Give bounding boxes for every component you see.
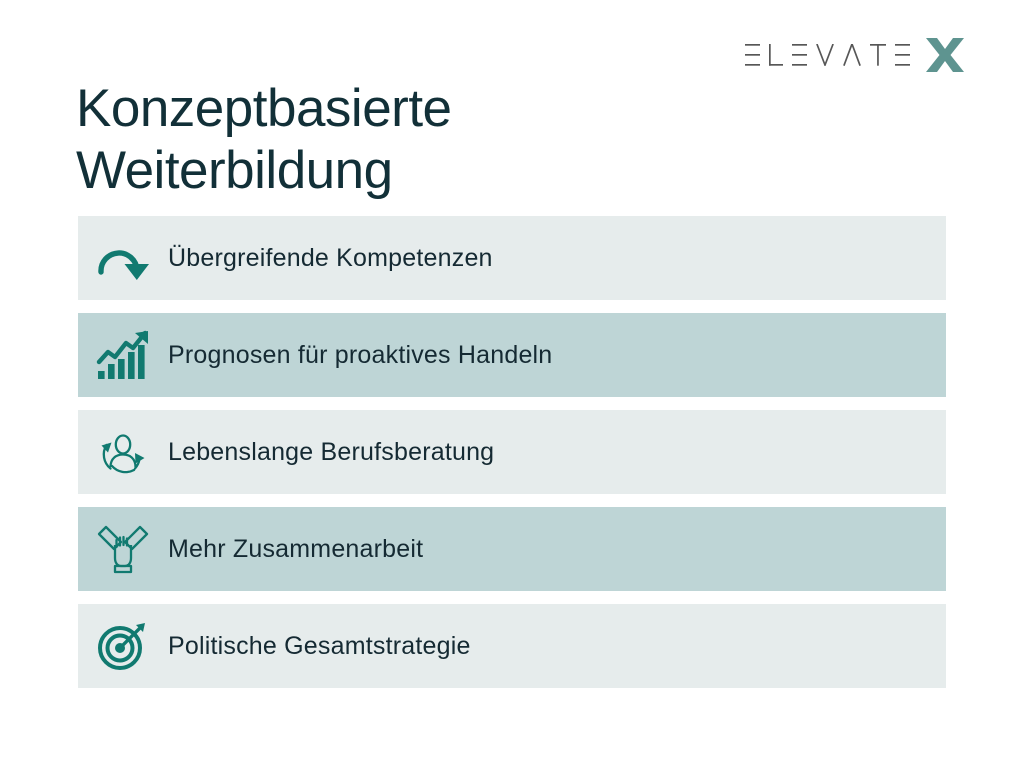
teamwork-hands-icon [92, 518, 154, 580]
person-refresh-icon [92, 421, 154, 483]
list-item[interactable]: Lebenslange Berufsberatung [78, 410, 946, 494]
list-item-label: Übergreifende Kompetenzen [168, 244, 493, 273]
logo-letter-v [816, 44, 834, 66]
list-item[interactable]: Übergreifende Kompetenzen [78, 216, 946, 300]
list-item[interactable]: Mehr Zusammenarbeit [78, 507, 946, 591]
list-item-label: Politische Gesamtstrategie [168, 632, 471, 661]
target-dart-icon [92, 615, 154, 677]
logo-letter-a [843, 44, 861, 66]
logo-letter-e [895, 44, 910, 66]
logo-letter-e [745, 44, 760, 66]
list-item[interactable]: Politische Gesamtstrategie [78, 604, 946, 688]
logo-letter-t [870, 44, 886, 66]
growth-chart-icon [92, 324, 154, 386]
logo-letter-l [769, 44, 783, 66]
list-item[interactable]: Prognosen für proaktives Handeln [78, 313, 946, 397]
list-item-label: Lebenslange Berufsberatung [168, 438, 494, 467]
brand-wordmark [745, 40, 910, 70]
logo-x-mark-icon [924, 36, 966, 74]
page-title: Konzeptbasierte Weiterbildung [76, 78, 696, 202]
feature-list: Übergreifende Kompetenzen Prognosen für … [78, 216, 946, 701]
brand-logo [745, 36, 966, 74]
list-item-label: Prognosen für proaktives Handeln [168, 341, 552, 370]
list-item-label: Mehr Zusammenarbeit [168, 535, 423, 564]
logo-letter-e [792, 44, 807, 66]
curved-arrow-down-icon [92, 227, 154, 289]
